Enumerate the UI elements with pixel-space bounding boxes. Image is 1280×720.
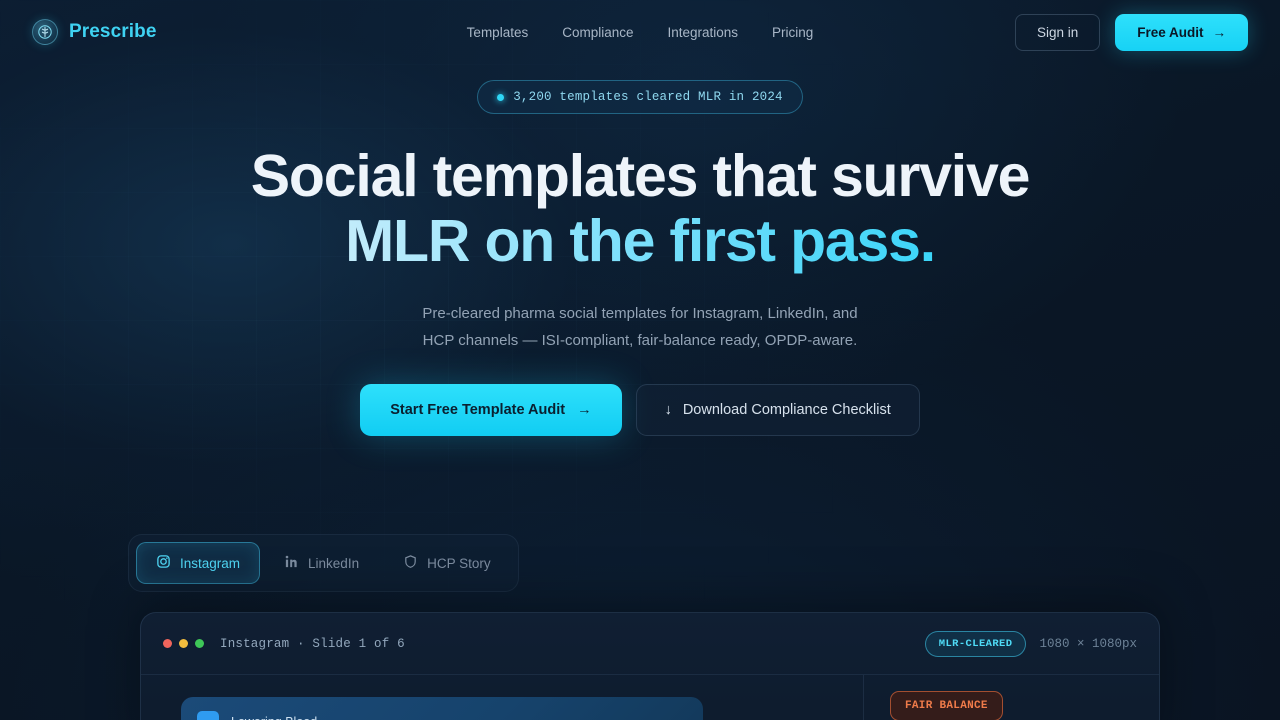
preview-title: Instagram · Slide 1 of 6 (220, 637, 405, 651)
close-icon[interactable] (163, 639, 172, 648)
header-actions: Sign in Free Audit → (1015, 14, 1248, 51)
nav-item-integrations[interactable]: Integrations (668, 25, 739, 40)
template-preview-card: Instagram · Slide 1 of 6 MLR-CLEARED 108… (140, 612, 1160, 720)
tab-hcp-story[interactable]: HCP Story (383, 542, 511, 584)
preview-titlebar: Instagram · Slide 1 of 6 MLR-CLEARED 108… (141, 613, 1159, 675)
preview-canvas: Lowering Blood… ISI ✓ HCP Targeti… (141, 675, 863, 720)
subtitle-line-1: Pre-cleared pharma social templates for … (422, 305, 857, 322)
download-checklist-button[interactable]: ↓ Download Compliance Checklist (636, 384, 920, 436)
post-header-row: Lowering Blood… (181, 697, 703, 720)
brand-logo[interactable]: Prescribe (32, 19, 157, 45)
download-checklist-label: Download Compliance Checklist (683, 402, 891, 418)
free-audit-label: Free Audit (1137, 25, 1203, 40)
linkedin-icon (284, 554, 299, 572)
landing-page: Prescribe Templates Compliance Integrati… (0, 0, 1280, 720)
preview-dimensions: 1080 × 1080px (1039, 637, 1137, 651)
sign-in-button[interactable]: Sign in (1015, 14, 1100, 51)
status-badge: MLR-CLEARED (925, 631, 1027, 657)
primary-nav: Templates Compliance Integrations Pricin… (467, 25, 814, 40)
instagram-icon (156, 554, 171, 572)
stat-badge: 3,200 templates cleared MLR in 2024 (477, 80, 803, 114)
preview-sidebar: FAIR BALANCE (864, 675, 1159, 720)
tab-instagram-label: Instagram (180, 556, 240, 571)
window-controls (163, 639, 204, 648)
nav-item-templates[interactable]: Templates (467, 25, 529, 40)
tab-instagram[interactable]: Instagram (136, 542, 260, 584)
status-dot-icon (497, 94, 504, 101)
minimize-icon[interactable] (179, 639, 188, 648)
caduceus-emblem-icon (32, 19, 58, 45)
hero-cta-group: Start Free Template Audit → ↓ Download C… (0, 384, 1280, 436)
download-icon: ↓ (665, 402, 672, 418)
start-free-audit-button[interactable]: Start Free Template Audit → (360, 384, 621, 436)
tab-linkedin[interactable]: LinkedIn (264, 542, 379, 584)
post-caption: Lowering Blood… (231, 715, 330, 720)
maximize-icon[interactable] (195, 639, 204, 648)
arrow-right-icon: → (577, 402, 592, 418)
headline-line-1: Social templates that survive (0, 144, 1280, 209)
post-mockup: Lowering Blood… (181, 697, 703, 720)
site-header: Prescribe Templates Compliance Integrati… (0, 0, 1280, 64)
nav-item-compliance[interactable]: Compliance (562, 25, 633, 40)
headline-line-2: MLR on the first pass. (0, 209, 1280, 274)
brand-name: Prescribe (69, 21, 157, 43)
preview-meta: MLR-CLEARED 1080 × 1080px (925, 631, 1137, 657)
tab-hcp-story-label: HCP Story (427, 556, 491, 571)
shield-icon (403, 554, 418, 572)
page-title: Social templates that survive MLR on the… (0, 144, 1280, 275)
subtitle-line-2: HCP channels — ISI-compliant, fair-balan… (423, 332, 858, 349)
channel-tabs: Instagram LinkedIn HCP Story (128, 534, 519, 592)
chip-fair-balance: FAIR BALANCE (890, 691, 1003, 720)
hero-subtitle: Pre-cleared pharma social templates for … (0, 301, 1280, 354)
preview-body: Lowering Blood… ISI ✓ HCP Targeti… FAIR … (141, 675, 1159, 720)
start-free-audit-label: Start Free Template Audit (390, 402, 565, 418)
arrow-right-icon: → (1213, 25, 1227, 40)
nav-item-pricing[interactable]: Pricing (772, 25, 813, 40)
tab-linkedin-label: LinkedIn (308, 556, 359, 571)
avatar (197, 711, 219, 720)
hero-section: 3,200 templates cleared MLR in 2024 Soci… (0, 64, 1280, 436)
stat-badge-label: 3,200 templates cleared MLR in 2024 (513, 90, 783, 104)
free-audit-button[interactable]: Free Audit → (1115, 14, 1248, 51)
